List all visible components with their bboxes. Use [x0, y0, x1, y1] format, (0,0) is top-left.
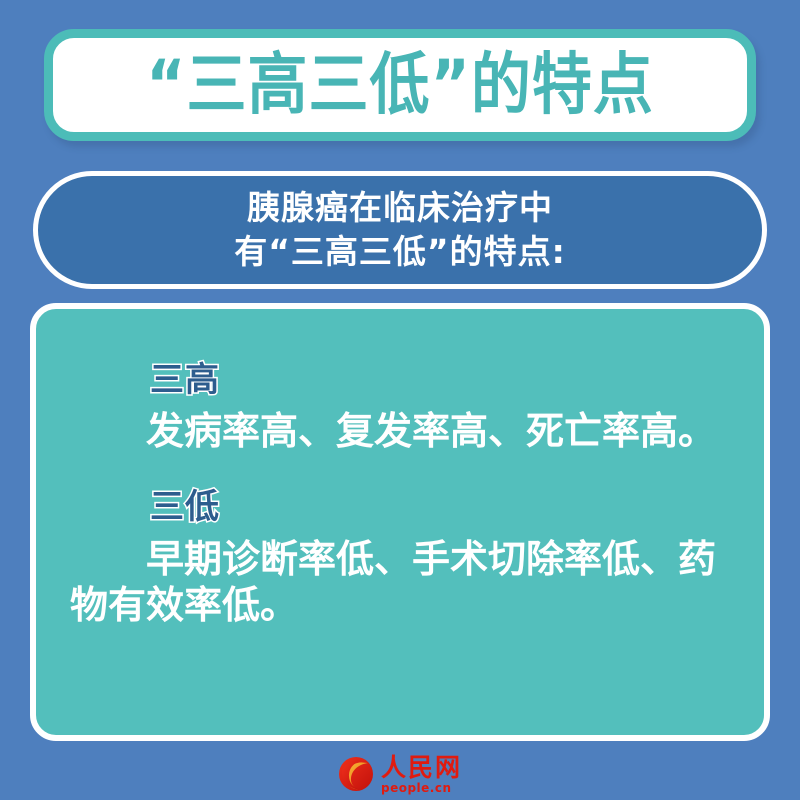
poster-canvas: “三高三低”的特点 胰腺癌在临床治疗中 有“三高三低”的特点: 三高 发病率高、… [0, 0, 800, 800]
section-heading-san-gao: 三高 [150, 361, 730, 400]
section-san-gao: 三高 发病率高、复发率高、死亡率高。 [70, 361, 730, 454]
section-san-di: 三低 早期诊断率低、手术切除率低、药物有效率低。 [70, 488, 730, 628]
people-cn-swoosh-icon [338, 756, 374, 792]
site-logo[interactable]: 人民网 people.cn [0, 748, 800, 800]
subtitle-line-1: 胰腺癌在临床治疗中 [247, 186, 553, 230]
logo-text-en: people.cn [381, 782, 452, 794]
title-card: “三高三低”的特点 [44, 29, 756, 141]
subtitle-pill: 胰腺癌在临床治疗中 有“三高三低”的特点: [33, 171, 767, 289]
page-title: “三高三低”的特点 [146, 51, 654, 118]
section-heading-san-di: 三低 [150, 488, 730, 527]
section-body-san-gao: 发病率高、复发率高、死亡率高。 [146, 408, 730, 454]
logo-text-cn: 人民网 [381, 755, 462, 780]
content-panel: 三高 发病率高、复发率高、死亡率高。 三低 早期诊断率低、手术切除率低、药物有效… [30, 303, 770, 741]
people-cn-wordmark: 人民网 people.cn [381, 755, 462, 794]
subtitle-line-2: 有“三高三低”的特点: [234, 230, 566, 274]
section-body-san-di: 早期诊断率低、手术切除率低、药物有效率低。 [70, 536, 730, 629]
